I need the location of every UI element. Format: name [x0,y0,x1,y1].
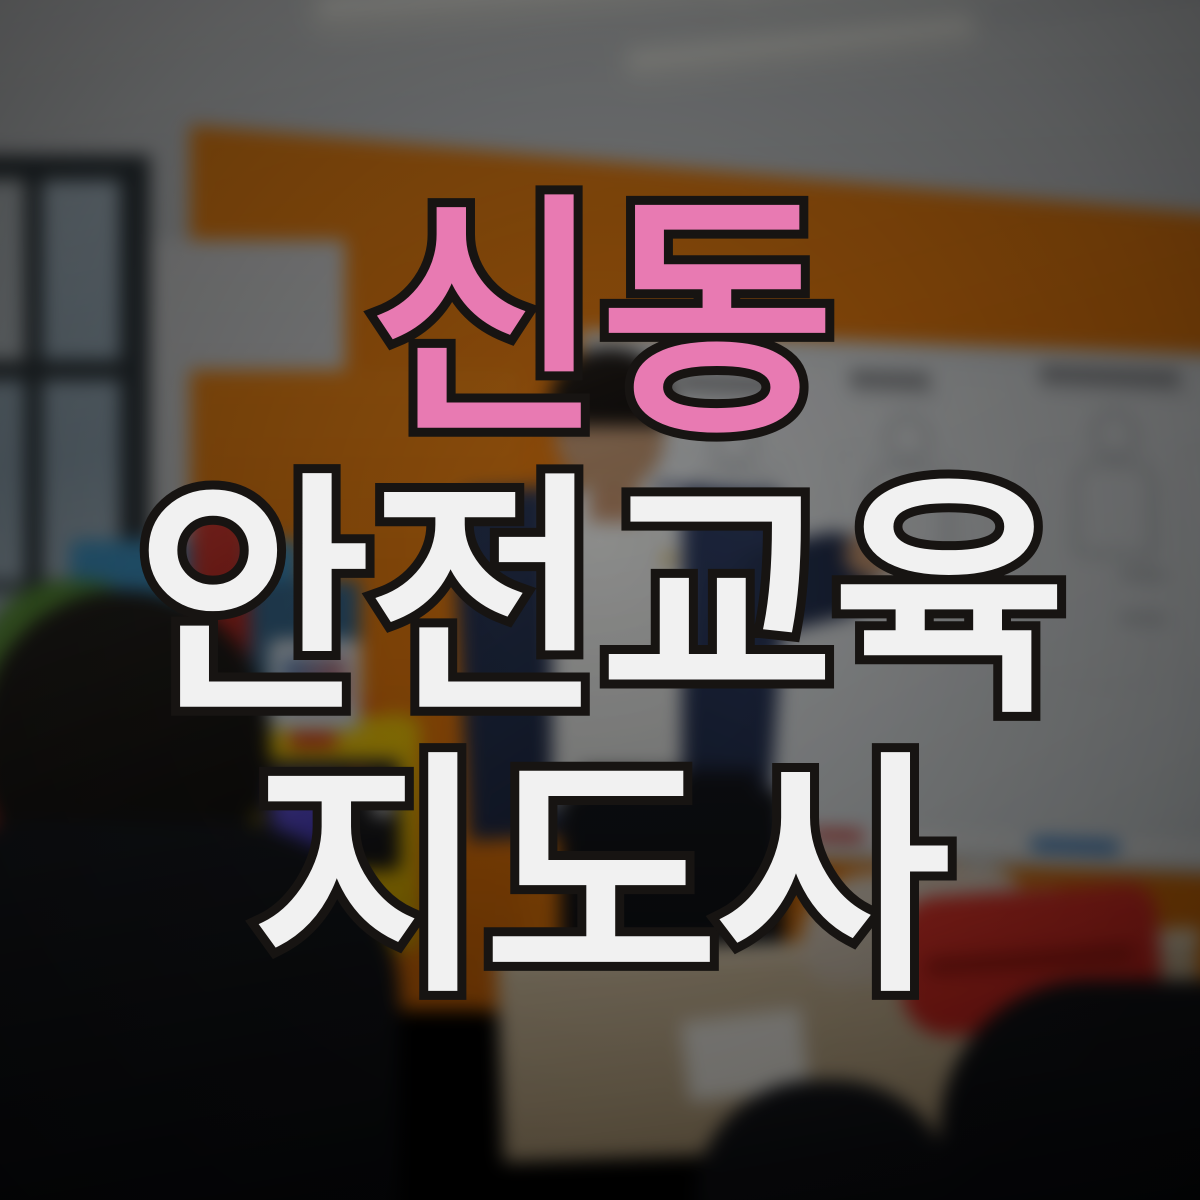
title-line-1: 신동 [368,194,832,449]
title-overlay: 신동 안전교육 지도사 [0,0,1200,1200]
title-line-2: 안전교육 [136,473,1064,728]
title-line-3: 지도사 [252,752,948,1007]
poster-canvas: 신동 안전교육 지도사 [0,0,1200,1200]
